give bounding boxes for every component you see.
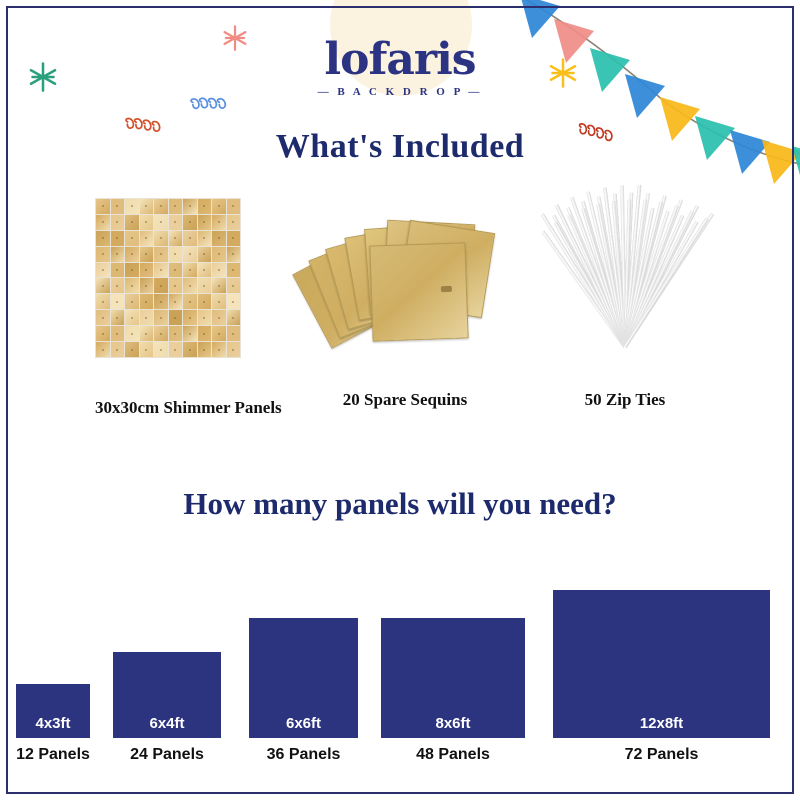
sequin-cell xyxy=(154,215,168,230)
sequin-cell xyxy=(169,231,183,246)
sequin-cell xyxy=(183,294,197,309)
infographic-page: lofaris — B A C K D R O P — What's Inclu… xyxy=(0,0,800,800)
sequin-cell xyxy=(125,342,139,357)
sequin-cell xyxy=(198,310,212,325)
panels-bar-chart: 4x3ft12 Panels6x4ft24 Panels6x6ft36 Pane… xyxy=(0,540,800,770)
sequin-cell xyxy=(198,278,212,293)
sequin-cell xyxy=(111,294,125,309)
sequin-cell xyxy=(169,310,183,325)
page-title-included: What's Included xyxy=(0,128,800,166)
sequin-cell xyxy=(227,278,241,293)
sequin-cell xyxy=(111,278,125,293)
sequin-cell xyxy=(140,294,154,309)
sequin-cell xyxy=(140,278,154,293)
brand-logo: lofaris — B A C K D R O P — xyxy=(0,38,800,98)
sequin-cell xyxy=(227,215,241,230)
sequin-cell xyxy=(140,231,154,246)
bar-rect: 6x6ft xyxy=(249,618,358,738)
bar-rect: 6x4ft xyxy=(113,652,221,738)
page-title-panels: How many panels will you need? xyxy=(0,486,800,522)
sequin-cell xyxy=(212,278,226,293)
product-row: 30x30cm Shimmer Panels 20 Spare Sequins … xyxy=(0,190,800,420)
sequin-cell xyxy=(212,294,226,309)
sequin-cell xyxy=(154,278,168,293)
sequin-cell xyxy=(227,342,241,357)
sequin-cell xyxy=(198,342,212,357)
sequin-cell xyxy=(125,215,139,230)
sequin-cell xyxy=(212,215,226,230)
sequin-cell xyxy=(154,199,168,214)
spare-sequins-image xyxy=(305,220,505,350)
sequin-cell xyxy=(125,310,139,325)
sequin-cell xyxy=(125,247,139,262)
bar-count-label: 36 Panels xyxy=(249,746,358,764)
sequin-cell xyxy=(183,310,197,325)
sequin-cell xyxy=(183,326,197,341)
sequin-cell xyxy=(227,263,241,278)
bar-size-label: 6x4ft xyxy=(113,715,221,732)
sequin-cell xyxy=(111,326,125,341)
sequin-cell xyxy=(96,263,110,278)
sequin-cell xyxy=(154,231,168,246)
product-caption-sequins: 20 Spare Sequins xyxy=(305,390,505,410)
sequin-cell xyxy=(183,199,197,214)
sequin-cell xyxy=(125,294,139,309)
sequin-cell xyxy=(154,247,168,262)
sequin-cell xyxy=(198,231,212,246)
sequin-cell xyxy=(212,310,226,325)
sequin-cell xyxy=(227,247,241,262)
sequin-cell xyxy=(140,310,154,325)
sequin-cell xyxy=(96,215,110,230)
sequin-cell xyxy=(140,215,154,230)
bar-column: 6x6ft36 Panels xyxy=(249,540,358,770)
sequin-cell xyxy=(227,231,241,246)
sequin-cell xyxy=(198,326,212,341)
sequin-cell xyxy=(154,342,168,357)
sequin-cell xyxy=(169,199,183,214)
sequin-cell xyxy=(96,342,110,357)
product-shimmer-panel: 30x30cm Shimmer Panels xyxy=(95,198,241,358)
sequin-cell xyxy=(198,247,212,262)
sequin-cell xyxy=(125,326,139,341)
sequin-cell xyxy=(169,215,183,230)
sequin-cell xyxy=(111,215,125,230)
bar-rect: 4x3ft xyxy=(16,684,90,738)
bar-size-label: 4x3ft xyxy=(16,715,90,732)
product-zip-ties: 50 Zip Ties xyxy=(545,195,705,355)
sequin-cell xyxy=(169,326,183,341)
sequin-cell xyxy=(198,215,212,230)
sequin-cell xyxy=(96,199,110,214)
sequin-cell xyxy=(111,310,125,325)
sequin-cell xyxy=(183,247,197,262)
sequin-cell xyxy=(140,326,154,341)
bar-rect: 8x6ft xyxy=(381,618,525,738)
sequin-cell xyxy=(96,247,110,262)
sequin-cell xyxy=(125,199,139,214)
sequin-hole xyxy=(441,286,452,292)
sequin-cell xyxy=(227,326,241,341)
sequin-cell xyxy=(111,199,125,214)
sequin-cell xyxy=(198,263,212,278)
sequin-cell xyxy=(96,294,110,309)
bar-size-label: 12x8ft xyxy=(553,715,770,732)
sequin-cell xyxy=(111,263,125,278)
sequin-cell xyxy=(96,278,110,293)
sequin-card xyxy=(369,242,468,341)
sequin-cell xyxy=(140,342,154,357)
shimmer-panel-image xyxy=(95,198,241,358)
product-caption-shimmer: 30x30cm Shimmer Panels xyxy=(95,398,241,418)
zip-ties-image xyxy=(545,195,705,355)
bar-count-label: 24 Panels xyxy=(113,746,221,764)
sequin-cell xyxy=(169,278,183,293)
product-caption-ties: 50 Zip Ties xyxy=(545,390,705,410)
bar-column: 12x8ft72 Panels xyxy=(553,540,770,770)
sequin-cell xyxy=(183,278,197,293)
sequin-cell xyxy=(183,231,197,246)
sequin-cell xyxy=(111,231,125,246)
sequin-cell xyxy=(154,263,168,278)
sequin-cell xyxy=(125,263,139,278)
sequin-cell xyxy=(212,231,226,246)
sequin-cell xyxy=(96,326,110,341)
sequin-cell xyxy=(183,263,197,278)
bar-count-label: 12 Panels xyxy=(16,746,90,764)
sequin-cell xyxy=(154,310,168,325)
sequin-cell xyxy=(212,199,226,214)
product-spare-sequins: 20 Spare Sequins xyxy=(305,220,505,350)
sequin-cell xyxy=(154,294,168,309)
sequin-cell xyxy=(140,199,154,214)
sequin-cell xyxy=(212,326,226,341)
bar-column: 4x3ft12 Panels xyxy=(16,540,90,770)
sequin-cell xyxy=(169,263,183,278)
bar-column: 8x6ft48 Panels xyxy=(381,540,525,770)
logo-wordmark: lofaris xyxy=(0,38,800,82)
bar-rect: 12x8ft xyxy=(553,590,770,738)
bar-count-label: 72 Panels xyxy=(553,746,770,764)
sequin-cell xyxy=(111,247,125,262)
sequin-cell xyxy=(125,231,139,246)
sequin-cell xyxy=(140,263,154,278)
bar-column: 6x4ft24 Panels xyxy=(113,540,221,770)
sequin-cell xyxy=(183,215,197,230)
sequin-cell xyxy=(227,199,241,214)
sequin-cell xyxy=(125,278,139,293)
sequin-cell xyxy=(111,342,125,357)
sequin-cell xyxy=(169,247,183,262)
sequin-cell xyxy=(154,326,168,341)
bar-size-label: 8x6ft xyxy=(381,715,525,732)
sequin-cell xyxy=(227,294,241,309)
sequin-cell xyxy=(198,199,212,214)
sequin-cell xyxy=(198,294,212,309)
sequin-cell xyxy=(212,247,226,262)
sequin-cell xyxy=(140,247,154,262)
sequin-cell xyxy=(183,342,197,357)
bar-count-label: 48 Panels xyxy=(381,746,525,764)
sequin-cell xyxy=(212,263,226,278)
sequin-cell xyxy=(227,310,241,325)
sequin-cell xyxy=(169,342,183,357)
logo-tagline: — B A C K D R O P — xyxy=(0,86,800,98)
sequin-cell xyxy=(212,342,226,357)
sequin-cell xyxy=(96,310,110,325)
bar-size-label: 6x6ft xyxy=(249,715,358,732)
sequin-cell xyxy=(96,231,110,246)
sequin-cell xyxy=(169,294,183,309)
